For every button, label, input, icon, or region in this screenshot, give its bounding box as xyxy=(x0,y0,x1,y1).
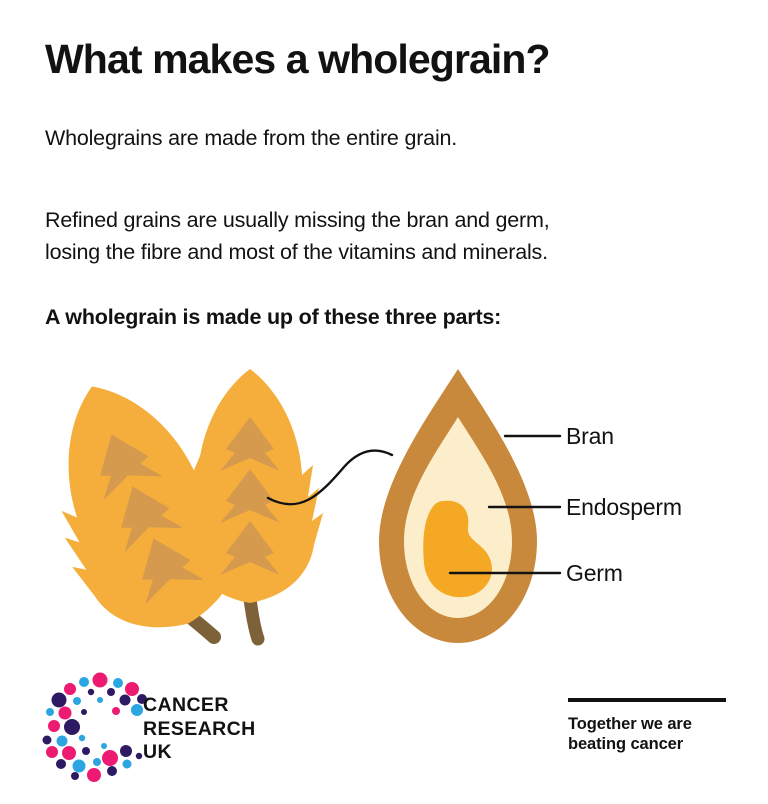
wordmark-line-2: RESEARCH xyxy=(143,718,256,742)
diagram-label-endosperm: Endosperm xyxy=(566,494,682,521)
wordmark-line-1: CANCER xyxy=(143,694,256,718)
tagline-line-1: Together we are xyxy=(568,714,728,734)
body-paragraph: Refined grains are usually missing the b… xyxy=(45,204,549,268)
intro-text: Wholegrains are made from the entire gra… xyxy=(45,126,457,151)
tagline-divider xyxy=(568,698,726,702)
infographic-canvas: What makes a wholegrain? Wholegrains are… xyxy=(0,0,768,804)
cruk-wordmark: CANCER RESEARCH UK xyxy=(143,694,256,765)
logo-dot-cluster xyxy=(43,673,148,783)
page-title: What makes a wholegrain? xyxy=(45,36,550,83)
wordmark-line-3: UK xyxy=(143,741,256,765)
tagline-block: Together we are beating cancer xyxy=(568,698,728,754)
tagline-line-2: beating cancer xyxy=(568,734,728,754)
body-paragraph-line-1: Refined grains are usually missing the b… xyxy=(45,204,549,236)
diagram-label-germ: Germ xyxy=(566,560,623,587)
body-paragraph-line-2: losing the fibre and most of the vitamin… xyxy=(45,236,549,268)
tagline: Together we are beating cancer xyxy=(568,714,728,754)
subheading: A wholegrain is made up of these three p… xyxy=(45,305,501,330)
diagram-label-bran: Bran xyxy=(566,423,614,450)
